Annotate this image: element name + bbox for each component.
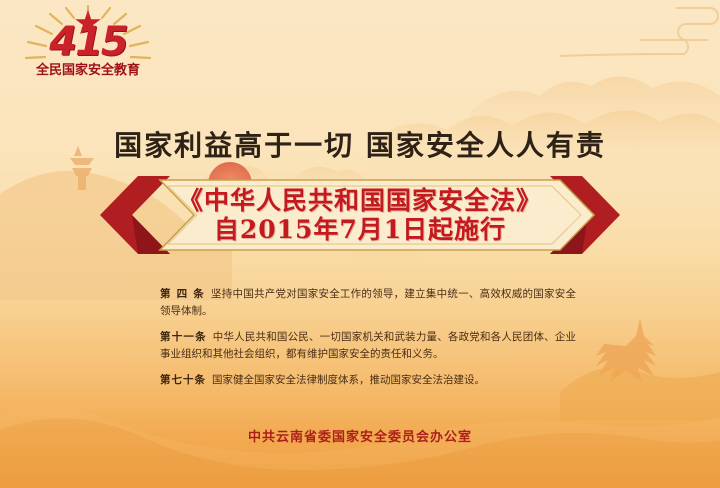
logo-415-text: 415 xyxy=(18,22,158,62)
banner-line-1: 《中华人民共和国国家安全法》 xyxy=(178,186,542,216)
article-body: 坚持中国共产党对国家安全工作的领导，建立集中统一、高效权威的国家安全领导体制。 xyxy=(160,288,576,317)
article-body: 国家健全国家安全法律制度体系，推动国家安全法治建设。 xyxy=(212,374,485,386)
article-body: 中华人民共和国公民、一切国家机关和武装力量、各政党和各人民团体、企业事业组织和其… xyxy=(160,331,576,360)
chinese-cloud-line-icon xyxy=(560,8,718,56)
law-articles: 第 四 条坚持中国共产党对国家安全工作的领导，建立集中统一、高效权威的国家安全领… xyxy=(160,286,576,398)
slogan-text: 国家利益高于一切 国家安全人人有责 xyxy=(0,124,720,164)
article-number: 第十一条 xyxy=(160,331,207,343)
logo-subtitle: 全民国家安全教育 xyxy=(18,64,158,77)
temple-roof-icon xyxy=(560,318,720,420)
banner-line-2: 自2015年7月1日起施行 xyxy=(214,215,506,245)
poster-canvas: 415 全民国家安全教育 国家利益高于一切 国家安全人人有责 《中华人民共和国国… xyxy=(0,0,720,488)
article-number: 第七十条 xyxy=(160,374,206,386)
article-item: 第七十条国家健全国家安全法律制度体系，推动国家安全法治建设。 xyxy=(160,372,576,389)
article-number: 第 四 条 xyxy=(160,288,205,300)
law-banner: 《中华人民共和国国家安全法》 自2015年7月1日起施行 xyxy=(98,172,622,258)
article-item: 第 四 条坚持中国共产党对国家安全工作的领导，建立集中统一、高效权威的国家安全领… xyxy=(160,286,576,320)
rolling-hills-icon xyxy=(0,404,720,488)
article-item: 第十一条中华人民共和国公民、一切国家机关和武装力量、各政党和各人民团体、企业事业… xyxy=(160,329,576,363)
footer-organization: 中共云南省委国家安全委员会办公室 xyxy=(0,426,720,445)
logo: 415 全民国家安全教育 xyxy=(18,4,158,92)
